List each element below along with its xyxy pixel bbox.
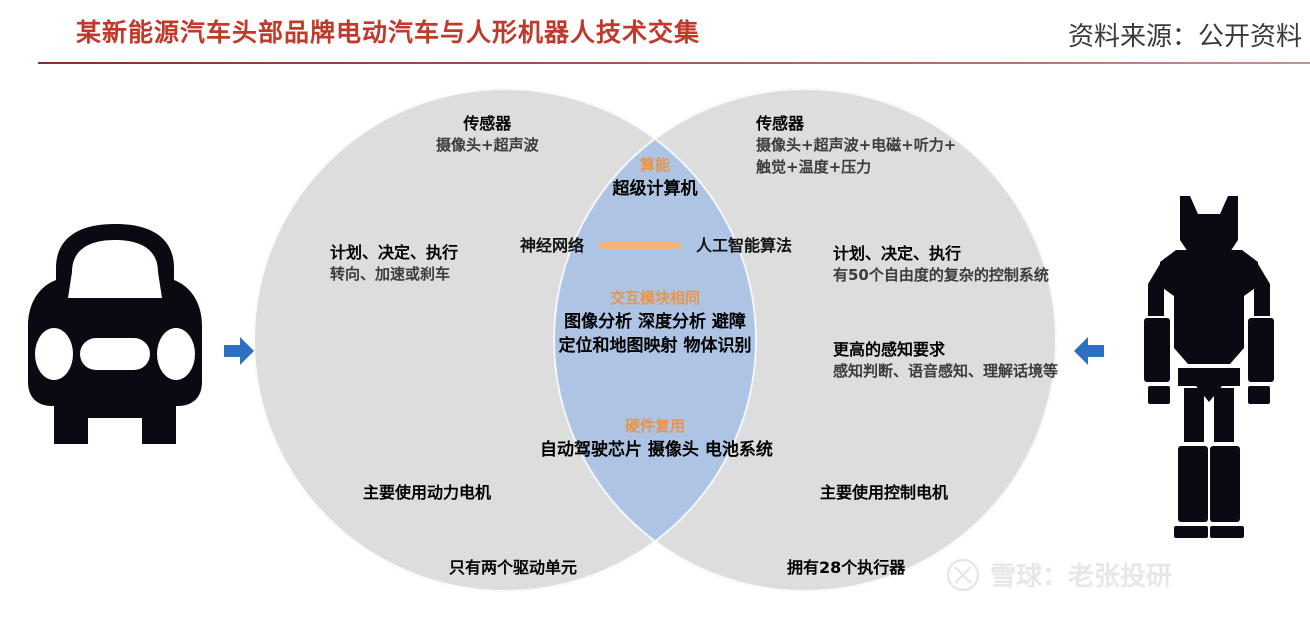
car-icon	[20, 206, 210, 452]
shared-compute-heading: 算能	[555, 155, 755, 177]
arrow-left-icon	[1072, 334, 1106, 368]
ev-plan-detail: 转向、加速或刹车	[330, 264, 458, 286]
shared-hardware-block: 硬件复用 自动驾驶芯片 摄像头 电池系统	[540, 416, 770, 462]
shared-hardware-heading: 硬件复用	[540, 416, 770, 438]
xueqiu-logo-icon	[946, 558, 980, 592]
watermark: 雪球：老张投研	[946, 556, 1172, 593]
shared-ai-right-label: 人工智能算法	[696, 234, 792, 257]
watermark-text: 雪球：老张投研	[990, 556, 1172, 593]
ev-motor-note: 主要使用动力电机	[363, 481, 491, 504]
robot-perception-detail: 感知判断、语音感知、理解话境等	[833, 361, 1058, 383]
robot-perception-block: 更高的感知要求 感知判断、语音感知、理解话境等	[833, 338, 1058, 383]
shared-compute-block: 算能 超级计算机	[555, 155, 755, 201]
header-divider	[38, 62, 1310, 64]
robot-plan-heading: 计划、决定、执行	[833, 242, 1049, 265]
robot-icon	[1118, 188, 1300, 538]
shared-interaction-block: 交互模块相同 图像分析 深度分析 避障 定位和地图映射 物体识别	[545, 288, 765, 359]
robot-actuator-note: 拥有28个执行器	[787, 556, 905, 579]
slide-header: 某新能源汽车头部品牌电动汽车与人形机器人技术交集 资料来源：公开资料	[0, 0, 1310, 66]
ev-sensor-detail: 摄像头+超声波	[436, 135, 539, 157]
robot-plan-block: 计划、决定、执行 有50个自由度的复杂的控制系统	[833, 242, 1049, 287]
shared-interaction-line-1: 图像分析 深度分析 避障	[545, 310, 765, 335]
shared-ai-left-label: 神经网络	[520, 234, 584, 257]
shared-hardware-line-1: 自动驾驶芯片 摄像头 电池系统	[540, 438, 770, 463]
robot-perception-heading: 更高的感知要求	[833, 338, 1058, 361]
robot-sensor-block: 传感器 摄像头+超声波+电磁+听力+ 触觉+温度+压力	[756, 112, 956, 179]
ev-sensor-block: 传感器 摄像头+超声波	[436, 112, 539, 157]
robot-motor-note: 主要使用控制电机	[820, 481, 948, 504]
ev-sensor-heading: 传感器	[436, 112, 539, 135]
shared-interaction-heading: 交互模块相同	[545, 288, 765, 310]
page-title: 某新能源汽车头部品牌电动汽车与人形机器人技术交集	[76, 13, 700, 49]
arrow-right-icon	[222, 334, 256, 368]
shared-interaction-line-2: 定位和地图映射 物体识别	[545, 334, 765, 359]
ev-plan-block: 计划、决定、执行 转向、加速或刹车	[330, 241, 458, 286]
slide-canvas: 某新能源汽车头部品牌电动汽车与人形机器人技术交集 资料来源：公开资料 传感器 摄…	[0, 0, 1310, 624]
ev-drive-units: 只有两个驱动单元	[449, 556, 577, 579]
shared-compute-detail: 超级计算机	[555, 177, 755, 202]
robot-sensor-heading: 传感器	[756, 112, 956, 135]
shared-ai-row: 神经网络 人工智能算法	[520, 234, 792, 257]
robot-sensor-detail-2: 触觉+温度+压力	[756, 157, 956, 179]
source-note: 资料来源：公开资料	[1068, 16, 1302, 53]
robot-plan-detail: 有50个自由度的复杂的控制系统	[833, 265, 1049, 287]
equivalence-connector-icon	[599, 242, 681, 249]
ev-plan-heading: 计划、决定、执行	[330, 241, 458, 264]
robot-sensor-detail-1: 摄像头+超声波+电磁+听力+	[756, 135, 956, 157]
